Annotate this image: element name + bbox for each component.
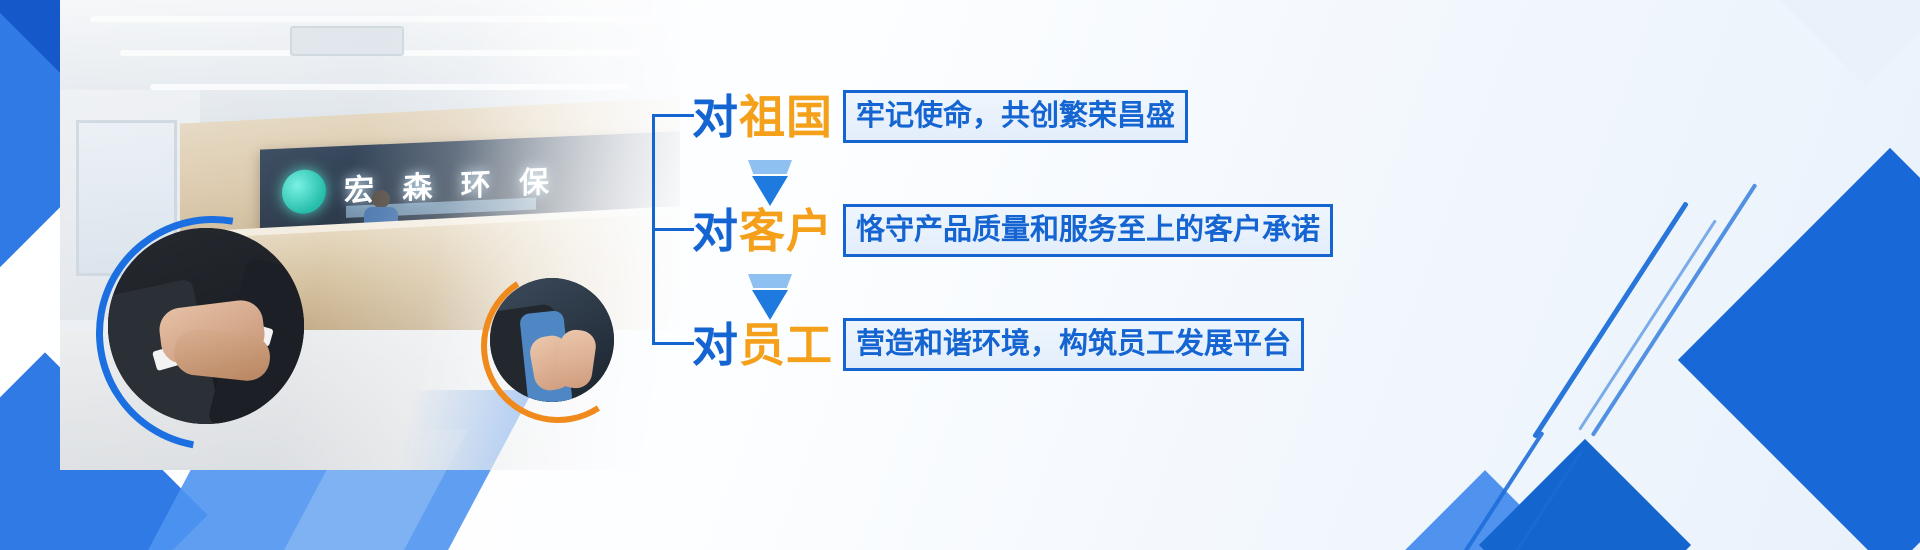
row-heading-customer: 对客户: [692, 208, 833, 254]
down-arrow-icon-1: [748, 160, 792, 206]
down-arrow-icon-2: [748, 274, 792, 320]
value-row-country: 对祖国 牢记使命，共创繁荣昌盛: [692, 90, 1188, 143]
row-prefix: 对: [692, 204, 739, 258]
value-row-customer: 对客户 恪守产品质量和服务至上的客户承诺: [692, 204, 1333, 257]
decor-bottom-right-diamond: [1479, 439, 1691, 550]
applause-image: [490, 278, 614, 402]
value-row-employee: 对员工 营造和谐环境，构筑员工发展平台: [692, 318, 1304, 371]
arrow-bottom-segment: [752, 176, 788, 206]
applause-circle-photo: [490, 278, 614, 402]
bracket-tick-3: [652, 342, 694, 345]
bracket-tick-2: [652, 228, 694, 231]
company-values-banner: 宏 森 环 保: [0, 0, 1920, 550]
arrow-top-segment: [748, 274, 792, 288]
handshake-circle-photo: [108, 228, 304, 424]
row-heading-country: 对祖国: [692, 94, 833, 140]
row-prefix: 对: [692, 90, 739, 144]
decor-slash-2: [1578, 219, 1717, 430]
row-statement-employee: 营造和谐环境，构筑员工发展平台: [843, 318, 1304, 371]
row-keyword: 员工: [739, 318, 833, 372]
row-keyword: 客户: [739, 204, 833, 258]
arrow-bottom-segment: [752, 290, 788, 320]
decor-right-large-diamond: [1678, 148, 1920, 550]
row-prefix: 对: [692, 318, 739, 372]
handshake-image: [108, 228, 304, 424]
bracket-tick-1: [652, 114, 694, 117]
bracket-connector: [652, 96, 694, 360]
row-keyword: 祖国: [739, 90, 833, 144]
arrow-top-segment: [748, 160, 792, 174]
decor-top-right-pale-diamond: [1745, 0, 1920, 85]
row-heading-employee: 对员工: [692, 322, 833, 368]
row-statement-country: 牢记使命，共创繁荣昌盛: [843, 90, 1188, 143]
row-statement-customer: 恪守产品质量和服务至上的客户承诺: [843, 204, 1333, 257]
